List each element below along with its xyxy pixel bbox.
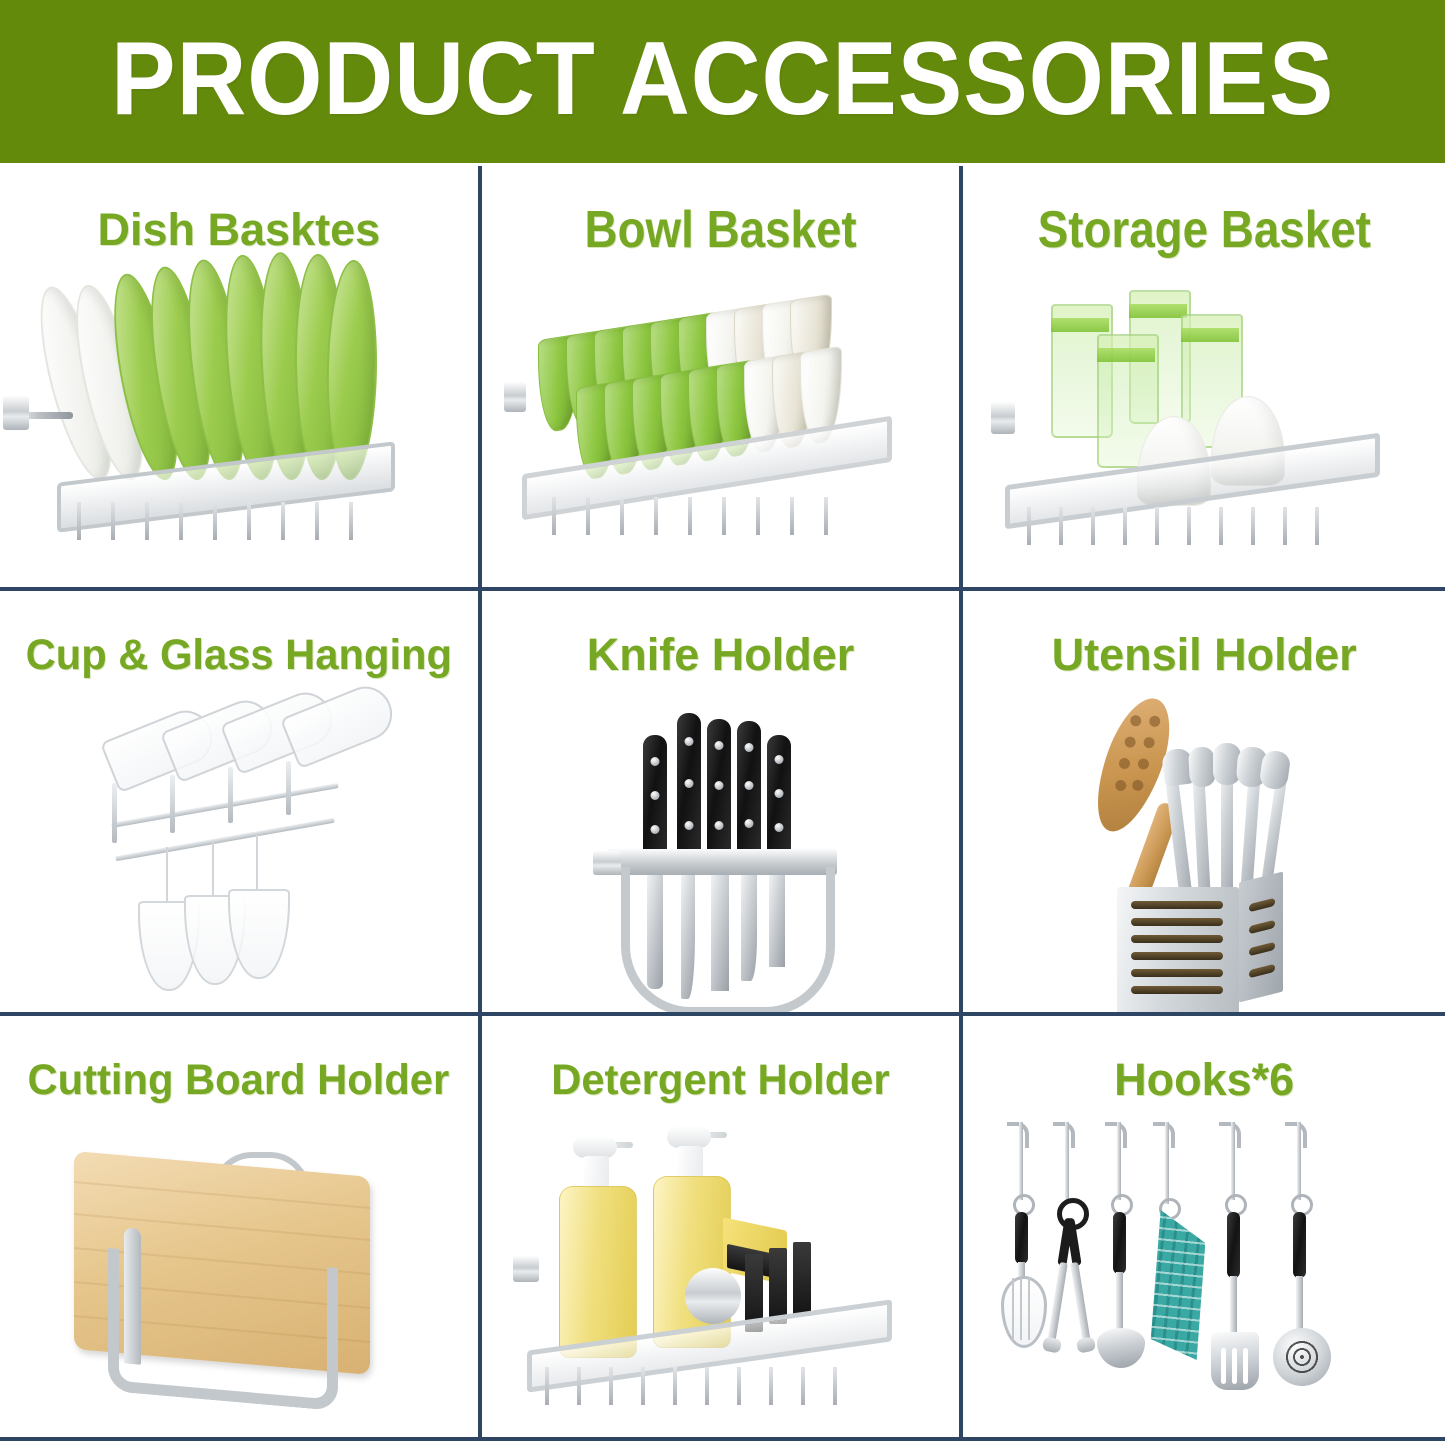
knife-holder-icon [482, 681, 960, 1012]
storage-basket-icon [963, 256, 1445, 587]
cell-label-cup-glass-hanging: Cup & Glass Hanging [26, 629, 452, 681]
header-banner: PRODUCT ACCESSORIES [0, 0, 1445, 163]
hooks-icon [963, 1106, 1445, 1437]
cup-glass-hanging-icon [0, 681, 478, 1012]
cell-label-hooks: Hooks*6 [1114, 1054, 1294, 1106]
cutting-board-holder-icon [0, 1106, 478, 1437]
cell-hooks[interactable]: Hooks*6 [963, 1016, 1445, 1441]
cell-label-dish-baskets: Dish Basktes [98, 204, 381, 256]
cell-label-storage-basket: Storage Basket [1038, 204, 1371, 256]
cell-dish-baskets[interactable]: Dish Basktes [0, 166, 482, 591]
bowl-basket-icon [482, 256, 960, 587]
cell-cutting-board-holder[interactable]: Cutting Board Holder [0, 1016, 482, 1441]
cell-bowl-basket[interactable]: Bowl Basket [482, 166, 964, 591]
detergent-holder-icon [482, 1106, 960, 1437]
cell-knife-holder[interactable]: Knife Holder [482, 591, 964, 1016]
cell-detergent-holder[interactable]: Detergent Holder [482, 1016, 964, 1441]
cell-utensil-holder[interactable]: Utensil Holder [963, 591, 1445, 1016]
cell-label-detergent-holder: Detergent Holder [551, 1054, 889, 1106]
dish-rack-icon [0, 256, 478, 587]
accessories-grid: Dish Basktes [0, 166, 1445, 1441]
cell-cup-glass-hanging[interactable]: Cup & Glass Hanging [0, 591, 482, 1016]
utensil-holder-icon [963, 681, 1445, 1012]
cell-label-utensil-holder: Utensil Holder [1052, 629, 1357, 681]
product-accessories-infographic: PRODUCT ACCESSORIES Dish Basktes [0, 0, 1445, 1445]
page-title: PRODUCT ACCESSORIES [111, 27, 1334, 137]
cell-label-cutting-board-holder: Cutting Board Holder [28, 1054, 450, 1106]
cell-label-knife-holder: Knife Holder [587, 629, 855, 681]
cell-label-bowl-basket: Bowl Basket [584, 204, 856, 256]
cell-storage-basket[interactable]: Storage Basket [963, 166, 1445, 591]
